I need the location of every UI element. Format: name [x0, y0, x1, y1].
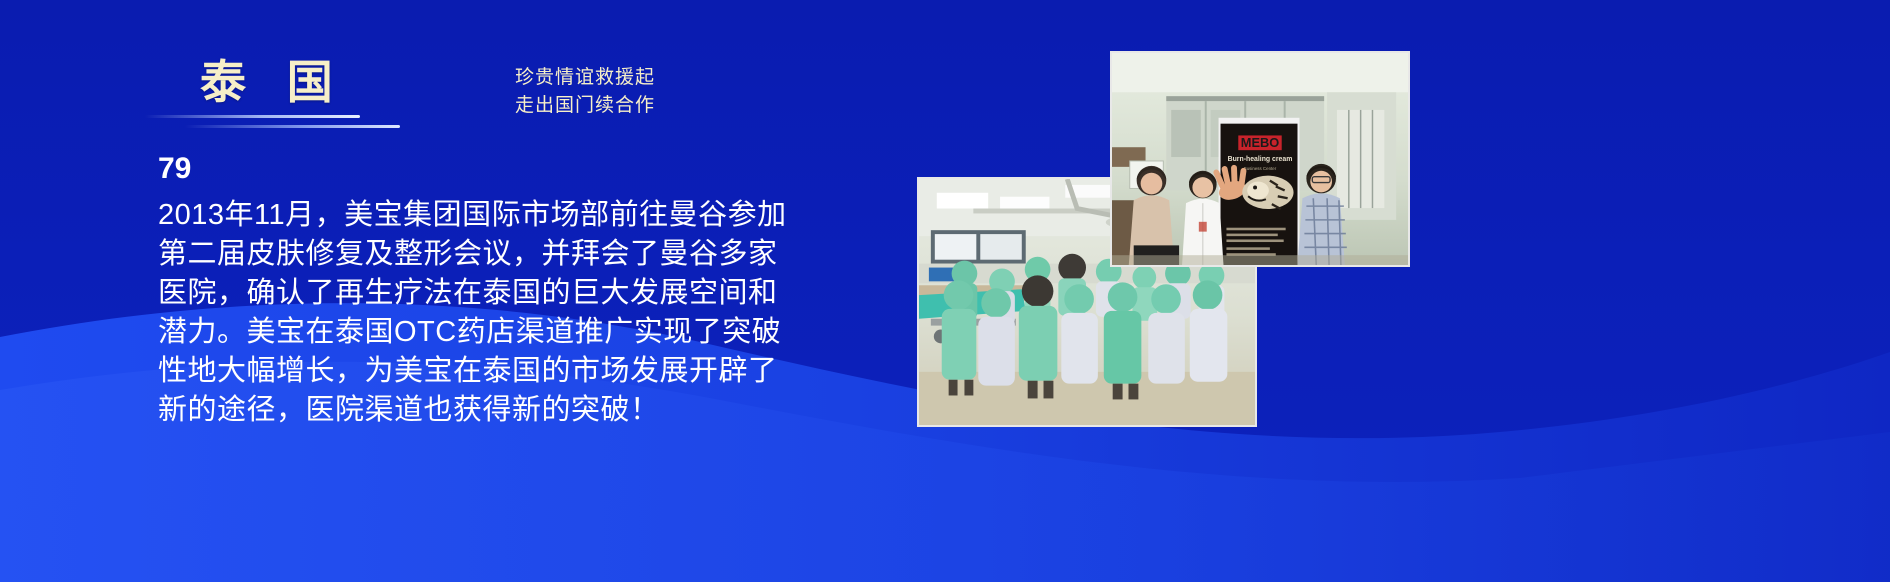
subtitle-line-1: 珍贵情谊救援起	[455, 64, 715, 92]
body-line-1: 2013年11月，美宝集团国际市场部前往曼谷参加	[158, 196, 824, 235]
body-line-2: 第二届皮肤修复及整形会议，并拜会了曼谷多家	[158, 235, 824, 274]
svg-text:Business Center: Business Center	[1244, 166, 1277, 171]
item-number: 79	[158, 152, 191, 186]
svg-text:Burn-healing cream: Burn-healing cream	[1228, 156, 1293, 163]
slide-root: 泰 国 珍贵情谊救援起 走出国门续合作 79 2013年11月，美宝集团国际市场…	[0, 0, 1890, 582]
subtitle-block: 珍贵情谊救援起 走出国门续合作	[455, 64, 715, 119]
mebo-booth-group-photo: MEBO Burn-healing cream Business Center	[1110, 51, 1410, 267]
title-rule-secondary	[185, 125, 400, 128]
title-rule-primary	[145, 115, 360, 118]
subtitle-line-2: 走出国门续合作	[455, 92, 715, 120]
svg-text:MEBO: MEBO	[1241, 135, 1280, 150]
body-text: 2013年11月，美宝集团国际市场部前往曼谷参加 第二届皮肤修复及整形会议，并拜…	[158, 196, 824, 430]
body-line-6: 新的途径，医院渠道也获得新的突破！	[158, 391, 824, 430]
body-line-5: 性地大幅增长，为美宝在泰国的市场发展开辟了	[158, 352, 824, 391]
body-line-3: 医院，确认了再生疗法在泰国的巨大发展空间和	[158, 274, 824, 313]
body-line-4: 潜力。美宝在泰国OTC药店渠道推广实现了突破	[158, 313, 824, 352]
